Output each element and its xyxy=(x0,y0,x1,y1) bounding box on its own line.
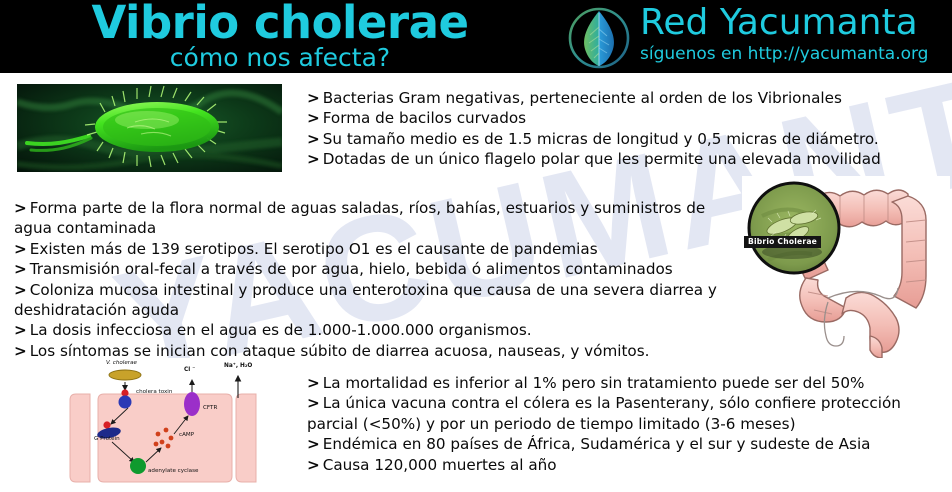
bullet-marker: > xyxy=(307,109,320,127)
list-item: >La única vacuna contra el cólera es la … xyxy=(307,393,952,434)
list-item-text: Bacterias Gram negativas, perteneciente … xyxy=(323,89,842,107)
list-item: >La mortalidad es inferior al 1% pero si… xyxy=(307,373,952,393)
list-item-text: Endémica en 80 países de África, Sudamér… xyxy=(323,435,871,453)
list-item: >Forma de bacilos curvados xyxy=(307,108,952,128)
bullet-marker: > xyxy=(307,130,320,148)
list-item-text: Causa 120,000 muertes al año xyxy=(323,456,557,474)
label-g-protein: G Protein xyxy=(94,436,120,443)
bullet-marker: > xyxy=(307,150,320,168)
bullet-marker: > xyxy=(14,260,27,278)
list-item-text: Forma de bacilos curvados xyxy=(323,109,526,127)
list-item: >Coloniza mucosa intestinal y produce un… xyxy=(14,280,744,321)
bullet-marker: > xyxy=(307,456,320,474)
top-facts-list: >Bacterias Gram negativas, perteneciente… xyxy=(307,88,952,170)
list-item-text: Su tamaño medio es de 1.5 micras de long… xyxy=(323,130,879,148)
label-cholera-toxin-1: cholera toxin xyxy=(136,389,172,396)
list-item-text: La dosis infecciosa en el agua es de 1.0… xyxy=(30,321,532,339)
cholera-toxin-mechanism-diagram: V. cholerae cholera toxin G Protein aden… xyxy=(62,358,302,492)
large-intestine-colon-diagram: Bibrio Cholerae xyxy=(742,176,950,358)
header-bar: Vibrio cholerae cómo nos afecta? xyxy=(0,0,952,73)
list-item-text: La única vacuna contra el cólera es la P… xyxy=(307,394,901,432)
list-item-text: Forma parte de la flora normal de aguas … xyxy=(14,199,705,237)
vibrio-cholerae-micrograph xyxy=(17,84,282,172)
label-cftr: CFTR xyxy=(203,405,217,412)
list-item-text: La mortalidad es inferior al 1% pero sin… xyxy=(323,374,865,392)
list-item-text: Existen más de 139 serotipos. El serotip… xyxy=(30,240,598,258)
middle-facts-list: >Forma parte de la flora normal de aguas… xyxy=(14,198,744,361)
bullet-marker: > xyxy=(307,89,320,107)
list-item: >Su tamaño medio es de 1.5 micras de lon… xyxy=(307,129,952,149)
inset-caption: Bibrio Cholerae xyxy=(744,236,821,248)
infographic-poster: YACUMANTA Vibrio cholerae cómo nos afect… xyxy=(0,0,952,492)
list-item: >Endémica en 80 países de África, Sudamé… xyxy=(307,434,952,454)
label-adenylate-cyclase: adenylate cyclase xyxy=(148,468,198,475)
water-drop-leaf-logo-icon xyxy=(566,5,632,71)
list-item: >Existen más de 139 serotipos. El seroti… xyxy=(14,239,744,259)
bullet-marker: > xyxy=(14,342,27,360)
list-item: >Transmisión oral-fecal a través de por … xyxy=(14,259,744,279)
label-v-cholerae: V. cholerae xyxy=(106,360,137,367)
bullet-marker: > xyxy=(307,374,320,392)
list-item-text: Dotadas de un único flagelo polar que le… xyxy=(323,150,881,168)
label-sodium-water: Na⁺, H₂O xyxy=(224,363,252,370)
bullet-marker: > xyxy=(307,435,320,453)
bullet-marker: > xyxy=(14,281,27,299)
brand-name: Red Yacumanta xyxy=(640,2,918,44)
list-item: >Forma parte de la flora normal de aguas… xyxy=(14,198,744,239)
page-title: Vibrio cholerae xyxy=(0,0,560,48)
label-chloride: Cl ⁻ xyxy=(184,367,195,374)
list-item: >Bacterias Gram negativas, perteneciente… xyxy=(307,88,952,108)
bottom-facts-list: >La mortalidad es inferior al 1% pero si… xyxy=(307,373,952,475)
list-item: >Dotadas de un único flagelo polar que l… xyxy=(307,149,952,169)
list-item-text: Coloniza mucosa intestinal y produce una… xyxy=(14,281,717,319)
label-camp: cAMP xyxy=(179,432,194,439)
brand-block: Red Yacumanta síguenos en http://yacuman… xyxy=(562,2,952,72)
page-subtitle: cómo nos afecta? xyxy=(0,44,560,72)
bullet-marker: > xyxy=(14,199,27,217)
list-item: >Causa 120,000 muertes al año xyxy=(307,455,952,475)
list-item: >La dosis infecciosa en el agua es de 1.… xyxy=(14,320,744,340)
brand-url[interactable]: síguenos en http://yacumanta.org xyxy=(640,44,928,64)
bullet-marker: > xyxy=(307,394,320,412)
list-item-text: Transmisión oral-fecal a través de por a… xyxy=(30,260,673,278)
bullet-marker: > xyxy=(14,240,27,258)
bullet-marker: > xyxy=(14,321,27,339)
